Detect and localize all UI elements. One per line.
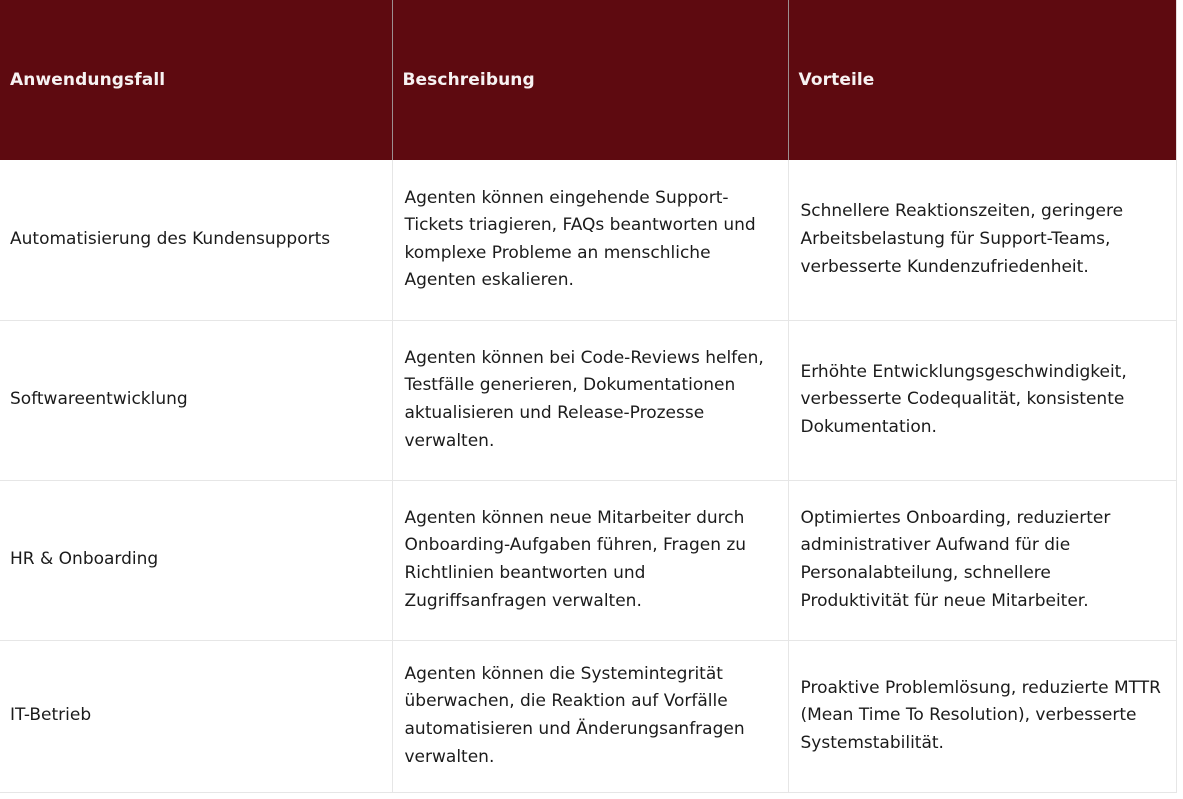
table-row: Automatisierung des Kundensupports Agent… <box>0 160 1176 320</box>
cell-benefits-text: Optimiertes Onboarding, reduzierter admi… <box>801 505 1162 615</box>
cell-description: Agenten können eingehende Support-Ticket… <box>392 160 788 320</box>
cell-usecase: Softwareentwicklung <box>0 320 392 480</box>
cell-description: Agenten können neue Mitarbeiter durch On… <box>392 480 788 640</box>
cell-benefits-text: Erhöhte Entwicklungsgeschwindigkeit, ver… <box>801 359 1162 442</box>
cell-usecase-text: Automatisierung des Kundensupports <box>10 226 382 254</box>
table-body: Automatisierung des Kundensupports Agent… <box>0 160 1176 792</box>
cell-benefits-text: Proaktive Problemlösung, reduzierte MTTR… <box>801 675 1162 758</box>
column-header-usecase: Anwendungsfall <box>0 0 392 160</box>
table-header: Anwendungsfall Beschreibung Vorteile <box>0 0 1176 160</box>
cell-benefits: Schnellere Reaktionszeiten, geringere Ar… <box>788 160 1176 320</box>
table-container: Anwendungsfall Beschreibung Vorteile Aut… <box>0 0 1183 799</box>
cell-usecase: Automatisierung des Kundensupports <box>0 160 392 320</box>
cell-description-text: Agenten können neue Mitarbeiter durch On… <box>405 505 774 615</box>
table-row: HR & Onboarding Agenten können neue Mita… <box>0 480 1176 640</box>
cell-description: Agenten können bei Code-Reviews helfen, … <box>392 320 788 480</box>
cell-description-text: Agenten können die Systemintegrität über… <box>405 661 774 771</box>
cell-benefits: Optimiertes Onboarding, reduzierter admi… <box>788 480 1176 640</box>
column-header-benefits: Vorteile <box>788 0 1176 160</box>
cell-benefits: Erhöhte Entwicklungsgeschwindigkeit, ver… <box>788 320 1176 480</box>
table-row: Softwareentwicklung Agenten können bei C… <box>0 320 1176 480</box>
cell-usecase: IT-Betrieb <box>0 640 392 792</box>
cell-usecase-text: IT-Betrieb <box>10 702 382 730</box>
cell-description-text: Agenten können eingehende Support-Ticket… <box>405 185 774 295</box>
cell-usecase-text: HR & Onboarding <box>10 546 382 574</box>
cell-usecase: HR & Onboarding <box>0 480 392 640</box>
cell-benefits: Proaktive Problemlösung, reduzierte MTTR… <box>788 640 1176 792</box>
cell-usecase-text: Softwareentwicklung <box>10 386 382 414</box>
table-row: IT-Betrieb Agenten können die Systeminte… <box>0 640 1176 792</box>
cell-description-text: Agenten können bei Code-Reviews helfen, … <box>405 345 774 455</box>
cell-benefits-text: Schnellere Reaktionszeiten, geringere Ar… <box>801 198 1162 281</box>
table-header-row: Anwendungsfall Beschreibung Vorteile <box>0 0 1176 160</box>
cell-description: Agenten können die Systemintegrität über… <box>392 640 788 792</box>
usecase-table: Anwendungsfall Beschreibung Vorteile Aut… <box>0 0 1177 793</box>
column-header-description: Beschreibung <box>392 0 788 160</box>
